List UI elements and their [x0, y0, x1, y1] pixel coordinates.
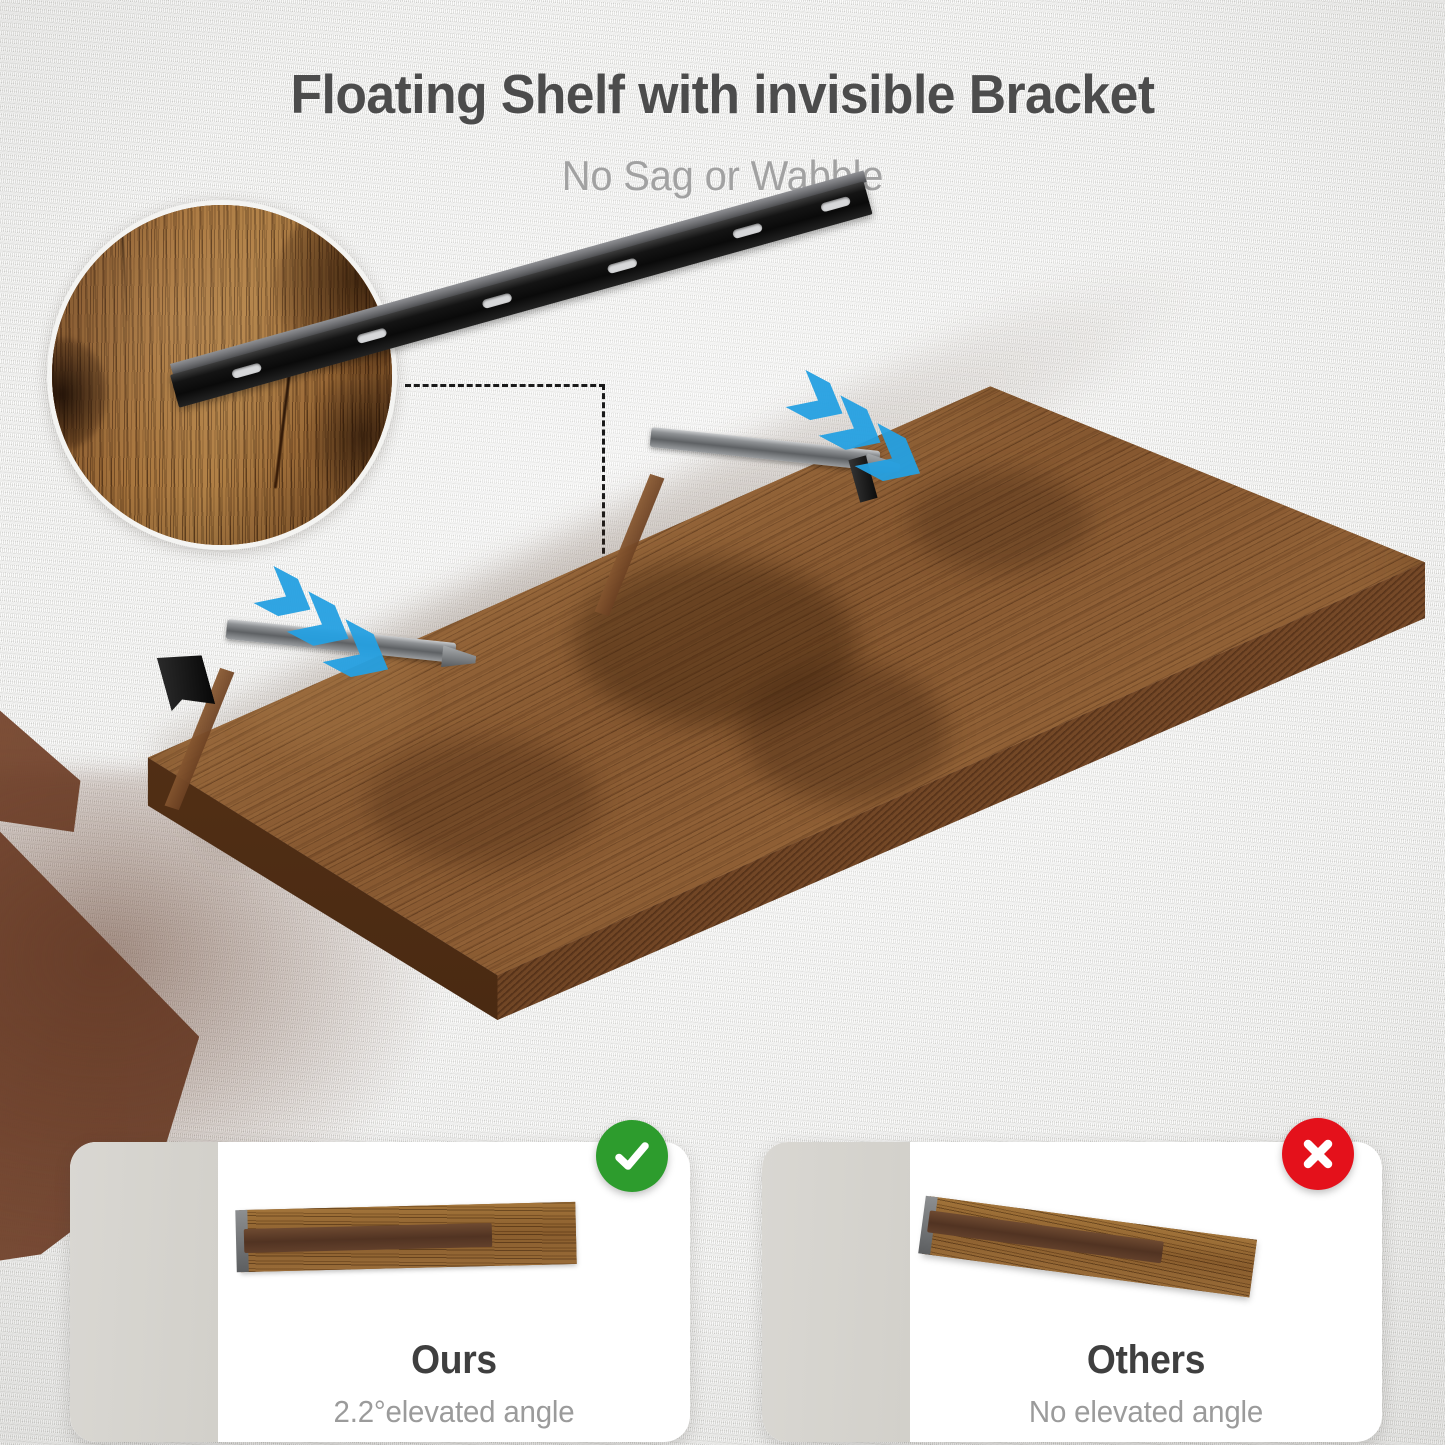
- screw-slot-icon: [607, 257, 638, 274]
- card-wall-block: [762, 1142, 910, 1442]
- screw-slot-icon: [356, 327, 387, 344]
- invisible-floating-bracket: [170, 375, 880, 675]
- card-label-others: Others: [927, 1338, 1366, 1383]
- screw-slot-icon: [732, 223, 763, 240]
- screw-slot-icon: [231, 362, 262, 379]
- comparison-card-others[interactable]: Others No elevated angle: [762, 1142, 1382, 1442]
- bracket-rod-tip: [441, 645, 477, 670]
- bracket-brace: [595, 474, 665, 616]
- wood-stain: [909, 470, 1090, 572]
- card-sublabel-others: No elevated angle: [922, 1394, 1370, 1430]
- wood-stain: [367, 738, 599, 866]
- card-wall-block: [70, 1142, 218, 1442]
- page-title: Floating Shelf with invisible Bracket: [43, 62, 1401, 126]
- cross-icon: [1282, 1118, 1354, 1190]
- screw-slot-icon: [820, 196, 851, 213]
- wood-stain: [741, 662, 947, 803]
- internal-rod-channel: [244, 1223, 493, 1253]
- product-infographic: Floating Shelf with invisible Bracket No…: [0, 0, 1445, 1445]
- check-icon: [596, 1120, 668, 1192]
- screw-slot-icon: [481, 292, 512, 309]
- card-sublabel-ours: 2.2°elevated angle: [230, 1394, 678, 1430]
- shelf-cross-section-sagging: [922, 1196, 1257, 1297]
- shelf-cross-section-level: [239, 1202, 576, 1272]
- card-label-ours: Ours: [235, 1338, 674, 1383]
- internal-rod-channel: [927, 1210, 1164, 1263]
- page-subtitle: No Sag or Wabble: [36, 152, 1409, 200]
- comparison-card-ours[interactable]: Ours 2.2°elevated angle: [70, 1142, 690, 1442]
